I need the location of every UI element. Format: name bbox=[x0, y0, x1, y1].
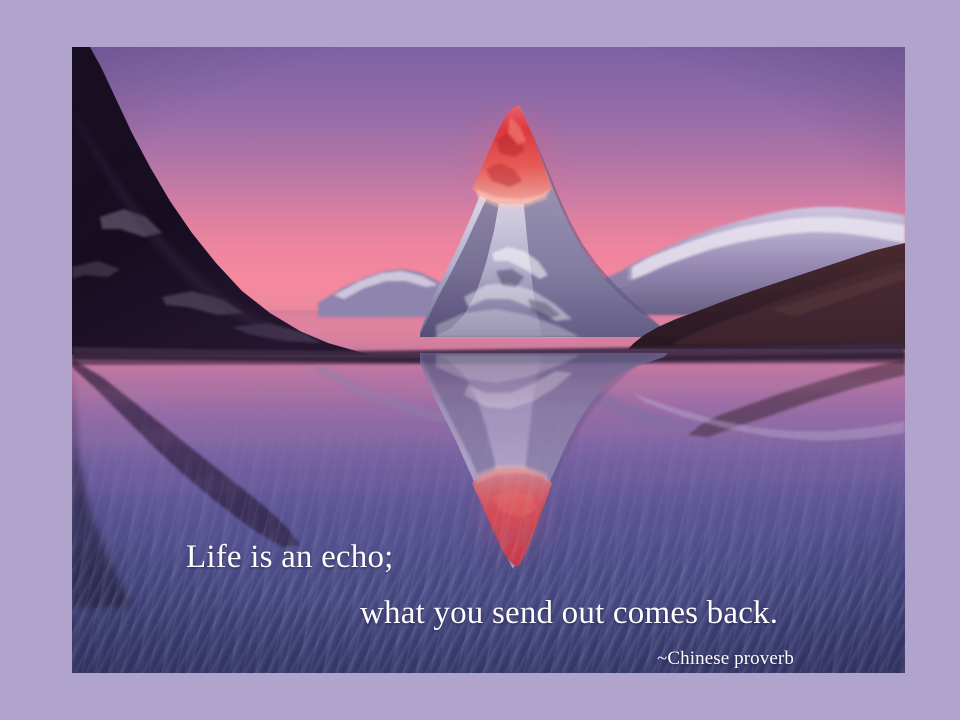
landscape-illustration bbox=[72, 47, 905, 673]
quote-line-1: Life is an echo; bbox=[186, 539, 394, 576]
slide-canvas: Life is an echo; what you send out comes… bbox=[0, 0, 960, 720]
matterhorn-sunrise-reflection-photo: Life is an echo; what you send out comes… bbox=[72, 47, 905, 673]
quote-attribution: ~Chinese proverb bbox=[657, 648, 794, 670]
quote-line-2: what you send out comes back. bbox=[360, 595, 778, 632]
main-mountain-peak bbox=[417, 97, 668, 337]
